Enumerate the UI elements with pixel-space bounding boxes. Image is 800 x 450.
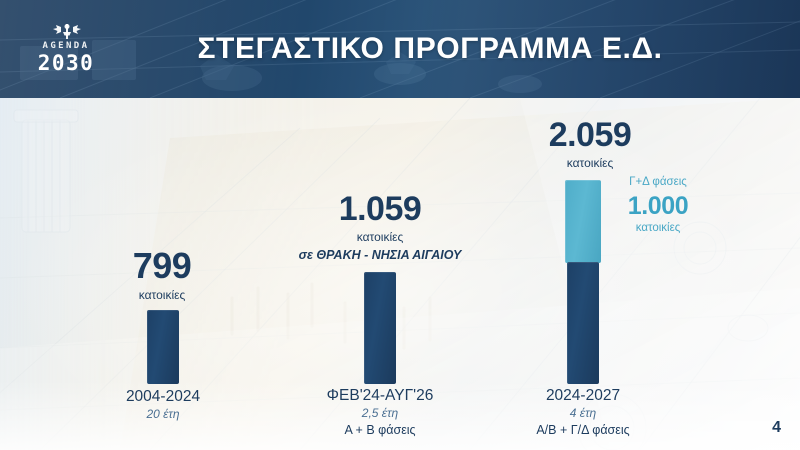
page-number: 4 xyxy=(772,419,781,437)
page-title: ΣΤΕΓΑΣΤΙΚΟ ΠΡΟΓΡΑΜΜΑ Ε.Δ. xyxy=(0,0,800,98)
bar-2-dark-segment xyxy=(364,272,396,384)
bar-3-note-unit: κατοικίες xyxy=(603,222,713,236)
chart-column-2: 1.059 κατοικίες σε ΘΡΑΚΗ - ΝΗΣΙΑ ΑΙΓΑΙΟΥ xyxy=(270,192,490,262)
chart-column-2-labels: ΦΕΒ'24-ΑΥΓ'26 2,5 έτη Α + Β φάσεις xyxy=(290,386,470,438)
column-3-years: 4 έτη xyxy=(493,405,673,421)
bar-3-light-segment xyxy=(565,180,601,263)
column-2-phases: Α + Β φάσεις xyxy=(290,422,470,439)
header-band: AGENDA 2030 ΣΤΕΓΑΣΤΙΚΟ ΠΡΟΓΡΑΜΜΑ Ε.Δ. xyxy=(0,0,800,98)
slide-root: AGENDA 2030 ΣΤΕΓΑΣΤΙΚΟ ΠΡΟΓΡΑΜΜΑ Ε.Δ. 79… xyxy=(0,0,800,450)
column-3-period: 2024-2027 xyxy=(493,386,673,405)
column-2-period: ΦΕΒ'24-ΑΥΓ'26 xyxy=(290,386,470,405)
column-1-period: 2004-2024 xyxy=(83,387,243,406)
column-1-years: 20 έτη xyxy=(83,406,243,422)
chart-column-1: 799 κατοικίες xyxy=(82,248,242,303)
column-3-phases: Α/Β + Γ/Δ φάσεις xyxy=(493,422,673,439)
column-2-subtitle: σε ΘΡΑΚΗ - ΝΗΣΙΑ ΑΙΓΑΙΟΥ xyxy=(270,248,490,262)
bar-3-note-title: Γ+Δ φάσεις xyxy=(603,176,713,190)
bar-3-dark-segment xyxy=(567,262,599,384)
column-2-years: 2,5 έτη xyxy=(290,405,470,421)
bar-3-phase-note: Γ+Δ φάσεις 1.000 κατοικίες xyxy=(603,176,713,236)
column-2-value: 1.059 xyxy=(270,192,490,226)
column-3-value: 2.059 xyxy=(500,118,680,152)
column-3-unit: κατοικίες xyxy=(500,156,680,171)
chart-column-3: 2.059 κατοικίες xyxy=(500,118,680,171)
bar-3-note-value: 1.000 xyxy=(603,193,713,221)
column-2-unit: κατοικίες xyxy=(270,230,490,245)
chart-column-3-labels: 2024-2027 4 έτη Α/Β + Γ/Δ φάσεις xyxy=(493,386,673,438)
chart-column-1-labels: 2004-2024 20 έτη xyxy=(83,387,243,423)
column-1-unit: κατοικίες xyxy=(82,288,242,303)
bar-1-dark-segment xyxy=(147,310,179,384)
column-1-value: 799 xyxy=(82,248,242,284)
